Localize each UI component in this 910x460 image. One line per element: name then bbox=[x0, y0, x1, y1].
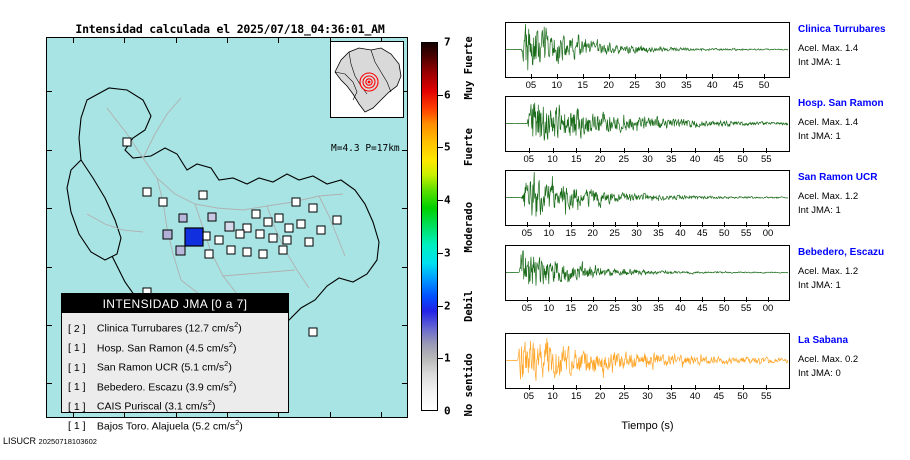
intensity-colorbar bbox=[421, 42, 438, 411]
colorbar-category-debil: Debil bbox=[463, 290, 475, 322]
seismogram-tickmark bbox=[695, 385, 696, 390]
seismogram-xtick-50: 50 bbox=[759, 80, 770, 91]
station-max-acceleration: Acel. Max. 1.4 bbox=[798, 116, 884, 130]
colorbar-tickmark bbox=[438, 95, 443, 96]
seismogram-xtick-35: 35 bbox=[653, 228, 664, 239]
seismogram-xtick-55: 55 bbox=[761, 154, 772, 165]
seismogram-xtick-45: 45 bbox=[713, 391, 724, 402]
seismogram-tickmark bbox=[549, 222, 550, 227]
colorbar-category-no-sentido: No sentido bbox=[463, 353, 475, 416]
colorbar-tick-6: 6 bbox=[444, 88, 451, 101]
station-name-label[interactable]: Clinica Turrubares bbox=[798, 24, 886, 35]
seismogram-tickmark bbox=[768, 297, 769, 302]
legend-row: [ 1 ] Bebedero. Escazu (3.9 cm/s2) bbox=[68, 376, 288, 396]
seismogram-trace-la-sabana[interactable] bbox=[505, 333, 790, 389]
legend-paren-close: ) bbox=[233, 342, 237, 354]
legend-intensity-value: [ 1 ] bbox=[68, 418, 94, 434]
seismogram-tickmark bbox=[702, 222, 703, 227]
legend-intensity-value: [ 1 ] bbox=[68, 340, 94, 356]
legend-station-list: [ 2 ] Clinica Turrubares (12.7 cm/s2) [ … bbox=[62, 313, 288, 434]
station-info-block: Hosp. San RamonAcel. Max. 1.4Int JMA: 1 bbox=[798, 98, 884, 144]
seismogram-tickmark bbox=[571, 222, 572, 227]
legend-station-name: Clinica Turrubares bbox=[97, 323, 182, 335]
seismogram-xtick-35: 35 bbox=[666, 154, 677, 165]
seismogram-xtick-15: 15 bbox=[577, 80, 588, 91]
seismogram-xtick-35: 35 bbox=[653, 303, 664, 314]
seismogram-tickmark bbox=[671, 148, 672, 153]
seismogram-xtick-45: 45 bbox=[697, 228, 708, 239]
watermark-label: LISUCR bbox=[3, 436, 36, 446]
colorbar-tick-0: 0 bbox=[444, 405, 451, 418]
station-name-label[interactable]: La Sabana bbox=[798, 335, 858, 346]
seismogram-xtick-30: 30 bbox=[642, 154, 653, 165]
seismogram-tickmark bbox=[583, 74, 584, 79]
station-info-block: Clinica TurrubaresAcel. Max. 1.4Int JMA:… bbox=[798, 24, 886, 70]
seismogram-tickmark bbox=[576, 385, 577, 390]
legend-paren-close: ) bbox=[212, 401, 216, 413]
seismogram-xaxis-label: Tiempo (s) bbox=[505, 420, 790, 432]
station-jma-intensity: Int JMA: 1 bbox=[798, 204, 877, 218]
station-info-block: San Ramon UCRAcel. Max. 1.2Int JMA: 1 bbox=[798, 172, 877, 218]
legend-intensity-value: [ 2 ] bbox=[68, 321, 94, 337]
station-jma-intensity: Int JMA: 1 bbox=[798, 56, 886, 70]
legend-paren-close: ) bbox=[233, 381, 237, 393]
seismogram-xtick-50: 50 bbox=[737, 154, 748, 165]
seismogram-tickmark bbox=[724, 297, 725, 302]
seismogram-tickmark bbox=[746, 297, 747, 302]
seismogram-xtick-05: 05 bbox=[522, 228, 533, 239]
colorbar-tick-4: 4 bbox=[444, 194, 451, 207]
seismogram-tickmark bbox=[527, 297, 528, 302]
legend-row: [ 1 ] San Ramon UCR (5.1 cm/s2) bbox=[68, 356, 288, 376]
seismogram-xtick-25: 25 bbox=[609, 228, 620, 239]
legend-accel-value: (5.1 cm/s bbox=[181, 362, 224, 374]
seismogram-xtick-30: 30 bbox=[655, 80, 666, 91]
station-info-block: Bebedero, EscazuAcel. Max. 1.2Int JMA: 1 bbox=[798, 247, 884, 293]
seismogram-tickmark bbox=[671, 385, 672, 390]
colorbar-tick-1: 1 bbox=[444, 352, 451, 365]
seismogram-xtick-15: 15 bbox=[565, 303, 576, 314]
seismogram-xtick-10: 10 bbox=[552, 80, 563, 91]
seismogram-xtick-55: 55 bbox=[741, 228, 752, 239]
legend-row: [ 1 ] CAIS Puriscal (3.1 cm/s2) bbox=[68, 395, 288, 415]
seismogram-tickmark bbox=[648, 148, 649, 153]
seismogram-xtick-50: 50 bbox=[719, 228, 730, 239]
seismogram-tickmark bbox=[637, 222, 638, 227]
seismogram-xtick-45: 45 bbox=[713, 154, 724, 165]
seismogram-xticks: 0510152025303540455055 bbox=[505, 391, 790, 405]
seismogram-tickmark bbox=[549, 297, 550, 302]
seismogram-tickmark bbox=[712, 74, 713, 79]
seismogram-xtick-25: 25 bbox=[618, 391, 629, 402]
seismogram-tickmark bbox=[609, 74, 610, 79]
seismogram-tickmark bbox=[768, 222, 769, 227]
seismogram-xtick-30: 30 bbox=[631, 303, 642, 314]
seismogram-tickmark bbox=[743, 385, 744, 390]
waveform-graphic bbox=[506, 246, 788, 299]
legend-row: [ 2 ] Clinica Turrubares (12.7 cm/s2) bbox=[68, 317, 288, 337]
seismogram-tickmark bbox=[593, 222, 594, 227]
seismogram-tickmark bbox=[719, 148, 720, 153]
seismogram-xtick-50: 50 bbox=[737, 391, 748, 402]
station-jma-intensity: Int JMA: 1 bbox=[798, 279, 884, 293]
seismogram-tickmark bbox=[648, 385, 649, 390]
colorbar-tick-5: 5 bbox=[444, 141, 451, 154]
seismogram-xtick-30: 30 bbox=[631, 228, 642, 239]
seismogram-tickmark bbox=[531, 74, 532, 79]
seismogram-xtick-40: 40 bbox=[707, 80, 718, 91]
legend-station-name: Bajos Toro. Alajuela bbox=[97, 420, 189, 432]
intensity-legend-panel: INTENSIDAD JMA [0 a 7] [ 2 ] Clinica Tur… bbox=[61, 293, 289, 413]
seismogram-tickmark bbox=[529, 148, 530, 153]
legend-intensity-value: [ 1 ] bbox=[68, 399, 94, 415]
seismogram-tickmark bbox=[557, 74, 558, 79]
seismogram-tickmark bbox=[695, 148, 696, 153]
seismogram-tickmark bbox=[743, 148, 744, 153]
waveform-graphic bbox=[506, 171, 788, 224]
seismogram-trace-san-ramon-ucr[interactable] bbox=[505, 170, 790, 226]
seismogram-tickmark bbox=[600, 385, 601, 390]
seismogram-tickmark bbox=[576, 148, 577, 153]
seismogram-xtick-05: 05 bbox=[526, 80, 537, 91]
inset-locator-map[interactable] bbox=[330, 41, 404, 118]
seismogram-xtick-10: 10 bbox=[544, 303, 555, 314]
seismogram-xtick-15: 15 bbox=[571, 154, 582, 165]
seismogram-xtick-25: 25 bbox=[609, 303, 620, 314]
colorbar-category-muy-fuerte: Muy Fuerte bbox=[463, 37, 475, 100]
seismogram-xtick-00: 00 bbox=[763, 228, 774, 239]
seismogram-xticks: 051015202530354045505500 bbox=[505, 303, 790, 317]
legend-row: [ 1 ] Hosp. San Ramon (4.5 cm/s2) bbox=[68, 337, 288, 357]
seismogram-xtick-40: 40 bbox=[690, 391, 701, 402]
inset-graphic bbox=[331, 42, 403, 117]
seismogram-xtick-40: 40 bbox=[675, 303, 686, 314]
seismogram-xtick-15: 15 bbox=[565, 228, 576, 239]
seismogram-tickmark bbox=[738, 74, 739, 79]
seismogram-tickmark bbox=[766, 385, 767, 390]
colorbar-category-moderado: Moderado bbox=[463, 201, 475, 252]
seismogram-xtick-40: 40 bbox=[675, 228, 686, 239]
station-marker-highlighted bbox=[185, 228, 203, 246]
magnitude-depth-label: M=4.3 P=17km bbox=[331, 143, 400, 154]
seismogram-tickmark bbox=[615, 297, 616, 302]
seismogram-tickmark bbox=[624, 385, 625, 390]
seismogram-xtick-35: 35 bbox=[666, 391, 677, 402]
legend-station-name: CAIS Puriscal bbox=[97, 401, 162, 413]
station-jma-intensity: Int JMA: 1 bbox=[798, 130, 884, 144]
legend-accel-value: (3.1 cm/s bbox=[165, 401, 208, 413]
seismogram-tickmark bbox=[624, 148, 625, 153]
seismogram-tickmark bbox=[724, 222, 725, 227]
legend-header: INTENSIDAD JMA [0 a 7] bbox=[62, 294, 288, 313]
seismogram-tickmark bbox=[766, 148, 767, 153]
seismogram-xtick-05: 05 bbox=[523, 154, 534, 165]
page-title: Intensidad calculada el 2025/07/18_04:36… bbox=[0, 22, 460, 36]
legend-station-name: San Ramon UCR bbox=[97, 362, 178, 374]
waveform-graphic bbox=[506, 97, 788, 150]
legend-intensity-value: [ 1 ] bbox=[68, 360, 94, 376]
colorbar-tick-3: 3 bbox=[444, 246, 451, 259]
seismogram-tickmark bbox=[553, 148, 554, 153]
seismogram-tickmark bbox=[680, 222, 681, 227]
seismogram-trace-clinica-turrubares[interactable] bbox=[505, 22, 790, 78]
seismogram-tickmark bbox=[637, 297, 638, 302]
seismogram-tickmark bbox=[553, 385, 554, 390]
colorbar-tick-2: 2 bbox=[444, 299, 451, 312]
colorbar-category-fuerte: Fuerte bbox=[463, 128, 475, 166]
legend-station-name: Hosp. San Ramon bbox=[97, 342, 183, 354]
seismogram-xtick-20: 20 bbox=[587, 303, 598, 314]
station-max-acceleration: Acel. Max. 1.4 bbox=[798, 42, 886, 56]
station-name-label[interactable]: San Ramon UCR bbox=[798, 172, 877, 183]
seismogram-xtick-20: 20 bbox=[595, 391, 606, 402]
station-info-block: La SabanaAcel. Max. 0.2Int JMA: 0 bbox=[798, 335, 858, 381]
seismogram-xtick-10: 10 bbox=[547, 391, 558, 402]
seismogram-xtick-55: 55 bbox=[741, 303, 752, 314]
seismogram-xtick-20: 20 bbox=[587, 228, 598, 239]
seismogram-xtick-55: 55 bbox=[761, 391, 772, 402]
seismogram-trace-hosp-san-ramon[interactable] bbox=[505, 96, 790, 152]
legend-row: [ 1 ] Bajos Toro. Alajuela (5.2 cm/s2) bbox=[68, 415, 288, 435]
seismogram-tickmark bbox=[660, 74, 661, 79]
seismogram-tickmark bbox=[571, 297, 572, 302]
seismogram-xticks: 051015202530354045505500 bbox=[505, 228, 790, 242]
seismogram-tickmark bbox=[658, 297, 659, 302]
seismogram-tickmark bbox=[746, 222, 747, 227]
seismogram-tickmark bbox=[719, 385, 720, 390]
seismogram-xtick-30: 30 bbox=[642, 391, 653, 402]
seismogram-tickmark bbox=[600, 148, 601, 153]
seismogram-trace-bebedero-escazu[interactable] bbox=[505, 245, 790, 301]
station-max-acceleration: Acel. Max. 1.2 bbox=[798, 265, 884, 279]
seismogram-xtick-50: 50 bbox=[719, 303, 730, 314]
colorbar-tickmark bbox=[438, 306, 443, 307]
colorbar-tickmark bbox=[438, 253, 443, 254]
legend-station-name: Bebedero. Escazu bbox=[97, 381, 183, 393]
seismogram-xtick-25: 25 bbox=[618, 154, 629, 165]
seismogram-xtick-10: 10 bbox=[544, 228, 555, 239]
colorbar-tickmark bbox=[438, 358, 443, 359]
legend-paren-close: ) bbox=[228, 362, 232, 374]
seismogram-xtick-35: 35 bbox=[681, 80, 692, 91]
watermark-code: 20250718103602 bbox=[39, 437, 97, 446]
colorbar-tickmark bbox=[438, 147, 443, 148]
station-jma-intensity: Int JMA: 0 bbox=[798, 367, 858, 381]
colorbar-tick-7: 7 bbox=[444, 36, 451, 49]
station-name-label[interactable]: Bebedero, Escazu bbox=[798, 247, 884, 258]
seismogram-xtick-05: 05 bbox=[522, 303, 533, 314]
seismogram-xtick-40: 40 bbox=[690, 154, 701, 165]
legend-accel-value: (3.9 cm/s bbox=[186, 381, 229, 393]
seismogram-xtick-10: 10 bbox=[547, 154, 558, 165]
colorbar-tickmark bbox=[438, 200, 443, 201]
legend-paren-close: ) bbox=[238, 323, 242, 335]
seismogram-xtick-45: 45 bbox=[697, 303, 708, 314]
station-max-acceleration: Acel. Max. 0.2 bbox=[798, 353, 858, 367]
seismogram-xtick-25: 25 bbox=[629, 80, 640, 91]
legend-accel-value: (12.7 cm/s bbox=[185, 323, 234, 335]
seismogram-tickmark bbox=[527, 222, 528, 227]
waveform-graphic bbox=[506, 334, 788, 387]
seismogram-xtick-20: 20 bbox=[603, 80, 614, 91]
seismogram-tickmark bbox=[529, 385, 530, 390]
seismogram-xtick-00: 00 bbox=[763, 303, 774, 314]
legend-accel-value: (4.5 cm/s bbox=[186, 342, 229, 354]
seismogram-xticks: 05101520253035404550 bbox=[505, 80, 790, 94]
seismogram-tickmark bbox=[702, 297, 703, 302]
seismogram-tickmark bbox=[593, 297, 594, 302]
legend-accel-value: (5.2 cm/s bbox=[192, 420, 235, 432]
seismogram-xticks: 0510152025303540455055 bbox=[505, 154, 790, 168]
seismogram-xtick-20: 20 bbox=[595, 154, 606, 165]
seismogram-xtick-05: 05 bbox=[523, 391, 534, 402]
seismogram-xtick-15: 15 bbox=[571, 391, 582, 402]
seismogram-tickmark bbox=[680, 297, 681, 302]
seismogram-tickmark bbox=[615, 222, 616, 227]
seismogram-tickmark bbox=[686, 74, 687, 79]
seismogram-tickmark bbox=[764, 74, 765, 79]
legend-intensity-value: [ 1 ] bbox=[68, 379, 94, 395]
seismogram-xtick-45: 45 bbox=[733, 80, 744, 91]
waveform-graphic bbox=[506, 23, 788, 76]
station-name-label[interactable]: Hosp. San Ramon bbox=[798, 98, 884, 109]
station-max-acceleration: Acel. Max. 1.2 bbox=[798, 190, 877, 204]
legend-paren-close: ) bbox=[239, 420, 243, 432]
seismogram-tickmark bbox=[658, 222, 659, 227]
watermark: LISUCR 20250718103602 bbox=[3, 436, 97, 446]
seismogram-tickmark bbox=[635, 74, 636, 79]
